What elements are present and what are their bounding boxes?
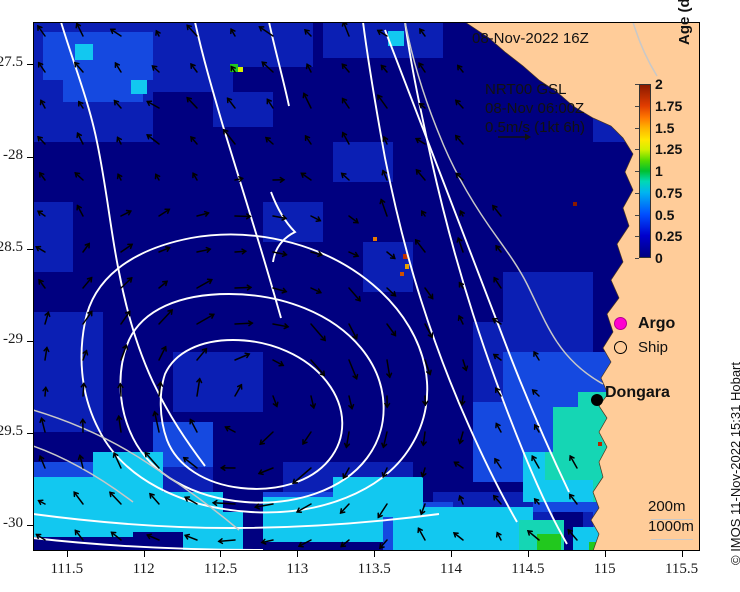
x-tick-label: 115.5 <box>652 561 712 578</box>
x-tick-mark <box>220 551 221 557</box>
current-vector <box>235 323 252 324</box>
bathymetry-scale: 200m 1000m <box>648 497 694 537</box>
legend-label-ship: Ship <box>638 339 668 356</box>
colorbar-tick-mark <box>635 215 639 216</box>
ship-marker-icon <box>614 341 627 354</box>
colorbar-tick-label: 1.5 <box>655 120 674 136</box>
y-tick-mark <box>27 64 33 65</box>
x-tick-label: 112.5 <box>190 561 250 578</box>
colorbar-tick-label: 0.5 <box>655 207 674 223</box>
bathy-label-200m: 200m <box>648 497 694 517</box>
colorbar-tick-mark <box>635 106 639 107</box>
colorbar-title: Age (days) of filled SST (wrt latest) <box>676 0 693 45</box>
timestamp-label: 08-Nov-2022 16Z <box>472 30 589 47</box>
x-tick-mark <box>528 551 529 557</box>
colorbar-tick-label: 0 <box>655 250 663 266</box>
x-tick-label: 114.5 <box>498 561 558 578</box>
y-tick-mark <box>27 341 33 342</box>
copyright-credit: © IMOS 11-Nov-2022 15:31 Hobart <box>728 362 740 565</box>
x-tick-label: 111.5 <box>37 561 97 578</box>
bathy-label-1000m: 1000m <box>648 517 694 537</box>
colorbar-tick-mark <box>635 193 639 194</box>
y-tick-mark <box>27 433 33 434</box>
model-time: 08-Nov 06:00Z <box>485 99 585 118</box>
y-tick-label: 29.5 <box>0 423 23 440</box>
x-tick-label: 113 <box>267 561 327 578</box>
x-tick-label: 113.5 <box>344 561 404 578</box>
argo-marker-icon <box>614 317 627 330</box>
x-tick-label: 114 <box>421 561 481 578</box>
figure-canvas: 111.5112112.5113113.5114114.5115115.5 27… <box>0 0 740 592</box>
y-tick-label: -30 <box>0 515 23 532</box>
x-tick-label: 115 <box>575 561 635 578</box>
colorbar-tick-mark <box>635 84 639 85</box>
x-tick-mark <box>451 551 452 557</box>
dongara-label: Dongara <box>605 384 670 402</box>
bathy-line-200m <box>651 519 693 520</box>
y-tick-mark <box>27 157 33 158</box>
colorbar-tick-mark <box>635 128 639 129</box>
x-tick-mark <box>144 551 145 557</box>
bathy-line-1000m <box>651 539 693 540</box>
map-raster <box>33 22 700 551</box>
map-plot-area[interactable] <box>33 22 700 551</box>
colorbar-tick-mark <box>635 258 639 259</box>
y-tick-mark <box>27 525 33 526</box>
colorbar-tick-label: 2 <box>655 76 663 92</box>
x-tick-mark <box>605 551 606 557</box>
y-tick-mark <box>27 249 33 250</box>
colorbar-tick-label: 0.25 <box>655 228 682 244</box>
colorbar-tick-label: 1.25 <box>655 141 682 157</box>
colorbar-tick-mark <box>635 236 639 237</box>
x-tick-label: 112 <box>114 561 174 578</box>
dongara-marker-icon <box>591 394 603 406</box>
x-tick-mark <box>374 551 375 557</box>
colorbar-tick-label: 1 <box>655 163 663 179</box>
colorbar-tick-mark <box>635 171 639 172</box>
current-vector <box>235 216 250 217</box>
current-vector <box>235 287 251 288</box>
model-name: NRT00 GSL <box>485 80 585 99</box>
y-tick-label: -29 <box>0 331 23 348</box>
colorbar-tick-label: 0.75 <box>655 185 682 201</box>
colorbar <box>639 84 651 258</box>
y-tick-label: 27.5 <box>0 54 23 71</box>
colorbar-tick-mark <box>635 149 639 150</box>
x-tick-mark <box>297 551 298 557</box>
y-tick-label: 28.5 <box>0 239 23 256</box>
x-tick-mark <box>682 551 683 557</box>
y-tick-label: -28 <box>0 147 23 164</box>
legend-label-argo: Argo <box>638 315 675 333</box>
velocity-scale-arrow <box>497 131 531 143</box>
x-tick-mark <box>67 551 68 557</box>
model-info-block: NRT00 GSL 08-Nov 06:00Z 0.5m/s (1kt 6h) <box>485 80 585 137</box>
colorbar-tick-label: 1.75 <box>655 98 682 114</box>
